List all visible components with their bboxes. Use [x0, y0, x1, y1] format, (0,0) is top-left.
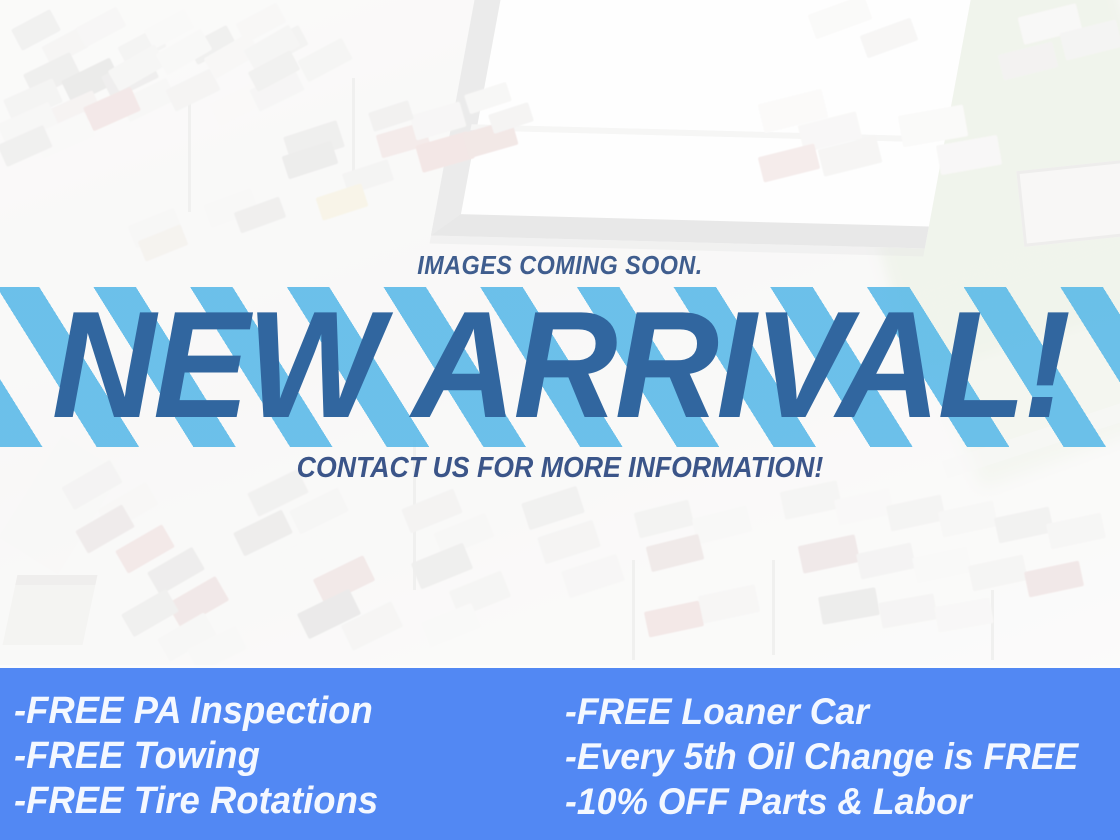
images-coming-soon-text: IMAGES COMING SOON. [56, 250, 1064, 281]
perk-item: -FREE Loaner Car [565, 689, 1098, 734]
perk-item: -FREE Tire Rotations [14, 779, 543, 824]
perk-item: -FREE Towing [14, 734, 543, 779]
service-perks-banner: -FREE PA Inspection -FREE Towing -FREE T… [0, 668, 1120, 840]
perk-item: -FREE PA Inspection [14, 689, 543, 734]
perks-column-left: -FREE PA Inspection -FREE Towing -FREE T… [0, 689, 565, 824]
perk-item: -Every 5th Oil Change is FREE [565, 734, 1098, 779]
perks-column-right: -FREE Loaner Car -Every 5th Oil Change i… [565, 689, 1120, 824]
new-arrival-headline: NEW ARRIVAL! [28, 289, 1092, 441]
perk-item: -10% OFF Parts & Labor [565, 779, 1098, 824]
placeholder-image: IMAGES COMING SOON. NEW ARRIVAL! CONTACT… [0, 0, 1120, 840]
contact-us-subline: CONTACT US FOR MORE INFORMATION! [45, 452, 1075, 485]
banner-top-divider [0, 665, 1120, 668]
